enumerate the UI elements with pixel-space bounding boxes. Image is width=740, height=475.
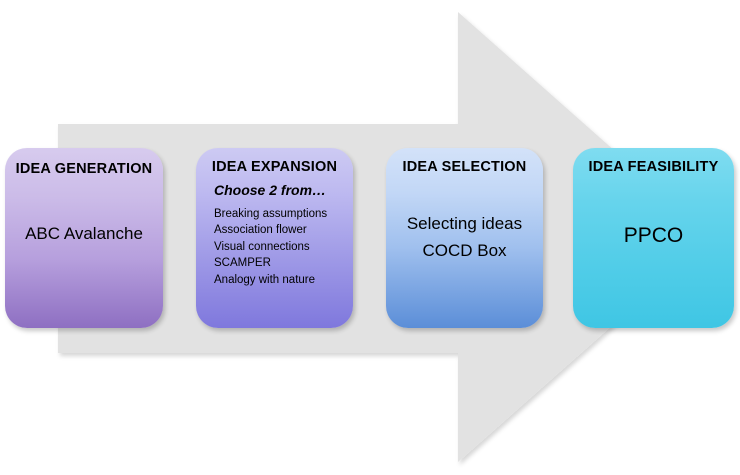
- list-item: Association flower: [214, 222, 343, 239]
- stage-body-feasibility: PPCO: [583, 224, 724, 248]
- list-item: Breaking assumptions: [214, 206, 343, 223]
- stage-card-expansion[interactable]: IDEA EXPANSION Choose 2 from… Breaking a…: [196, 148, 353, 328]
- stage-card-selection[interactable]: IDEA SELECTION Selecting ideas COCD Box: [386, 148, 543, 328]
- diagram-canvas: IDEA GENERATION ABC Avalanche IDEA EXPAN…: [0, 0, 740, 475]
- stage-card-feasibility[interactable]: IDEA FEASIBILITY PPCO: [573, 148, 734, 328]
- stage-body-selection-line2: COCD Box: [396, 237, 533, 264]
- list-item: Visual connections: [214, 239, 343, 256]
- stage-title-feasibility: IDEA FEASIBILITY: [583, 160, 724, 176]
- technique-list: Breaking assumptions Association flower …: [206, 206, 343, 289]
- stage-title-expansion: IDEA EXPANSION: [206, 160, 343, 176]
- stage-body-selection-line1: Selecting ideas: [396, 210, 533, 237]
- stage-body-selection: Selecting ideas COCD Box: [396, 210, 533, 264]
- stage-card-generation[interactable]: IDEA GENERATION ABC Avalanche: [5, 148, 163, 328]
- stage-subtitle-expansion: Choose 2 from…: [214, 182, 343, 198]
- stage-title-generation: IDEA GENERATION: [15, 160, 153, 178]
- list-item: SCAMPER: [214, 255, 343, 272]
- stage-body-generation: ABC Avalanche: [15, 224, 153, 244]
- list-item: Analogy with nature: [214, 272, 343, 289]
- stage-title-selection: IDEA SELECTION: [396, 160, 533, 176]
